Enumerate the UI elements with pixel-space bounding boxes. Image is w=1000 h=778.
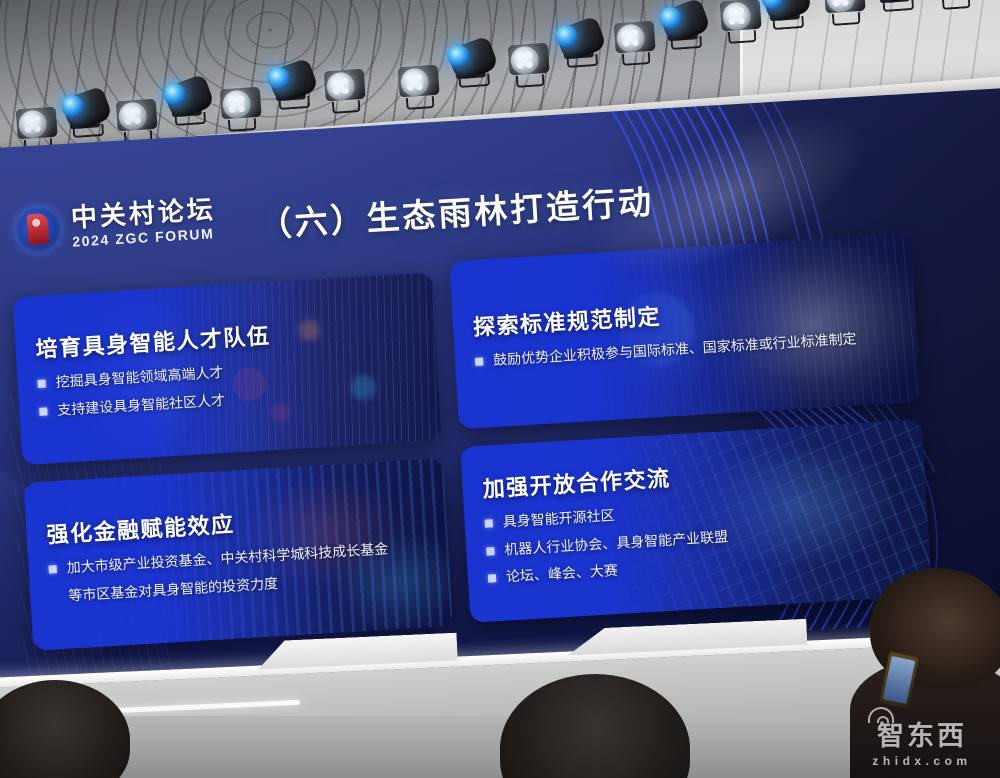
moving-head-icon <box>270 63 316 102</box>
card-finance[interactable]: 强化金融赋能效应 加大市级产业投资基金、中关村科学城科技成长基金 等市区基金对具… <box>24 458 453 651</box>
moving-head-icon <box>764 0 810 22</box>
bullet-square-icon <box>475 357 483 365</box>
par-can-icon <box>397 61 440 102</box>
par-can-icon <box>823 0 866 17</box>
par-can-icon <box>507 39 550 80</box>
bullet-text: 论坛、峰会、大赛 <box>505 560 618 588</box>
bullet-square-icon <box>485 519 493 527</box>
par-can-icon <box>115 95 158 136</box>
bullet-text-line2: 等市区基金对具身智能的投资力度 <box>68 573 279 607</box>
bullet-square-icon <box>39 407 47 415</box>
card-bullet-list: 挖掘具身智能领域高端人才 支持建设具身智能社区人才 <box>37 350 426 428</box>
bullet-square-icon <box>49 565 57 573</box>
bullet-text: 具身智能开源社区 <box>502 505 615 533</box>
bullet-square-icon <box>488 574 496 582</box>
par-can-icon <box>323 65 366 106</box>
par-can-icon <box>719 0 762 35</box>
card-standards[interactable]: 探索标准规范制定 鼓励优势企业积极参与国际标准、国家标准或行业标准制定 <box>449 234 920 429</box>
par-can-icon <box>219 83 262 124</box>
par-can-icon <box>613 17 656 58</box>
moving-head-icon <box>662 3 708 42</box>
audience-person-with-phone <box>840 568 1000 778</box>
card-talent[interactable]: 培育具身智能人才队伍 挖掘具身智能领域高端人才 支持建设具身智能社区人才 <box>13 272 442 465</box>
bullet-square-icon <box>37 379 45 387</box>
moving-head-icon <box>558 21 604 60</box>
bullet-text: 支持建设具身智能社区人才 <box>57 389 226 421</box>
card-grid: 培育具身智能人才队伍 挖掘具身智能领域高端人才 支持建设具身智能社区人才 <box>13 244 933 667</box>
zgc-forum-logo-icon <box>13 204 63 254</box>
par-can-icon <box>15 103 58 144</box>
bullet-text: 挖掘具身智能领域高端人才 <box>55 362 224 394</box>
conference-stage-photo: 中关村论坛 2024 ZGC FORUM （六）生态雨林打造行动 培育具身智能人… <box>0 0 1000 778</box>
moving-head-icon <box>64 91 110 130</box>
bullet-square-icon <box>486 547 494 555</box>
moving-head-icon <box>874 0 920 4</box>
moving-head-icon <box>450 41 496 80</box>
moving-head-icon <box>166 79 212 118</box>
card-bullet-list: 加大市级产业投资基金、中关村科学城科技成长基金 等市区基金对具身智能的投资力度 <box>48 536 437 614</box>
